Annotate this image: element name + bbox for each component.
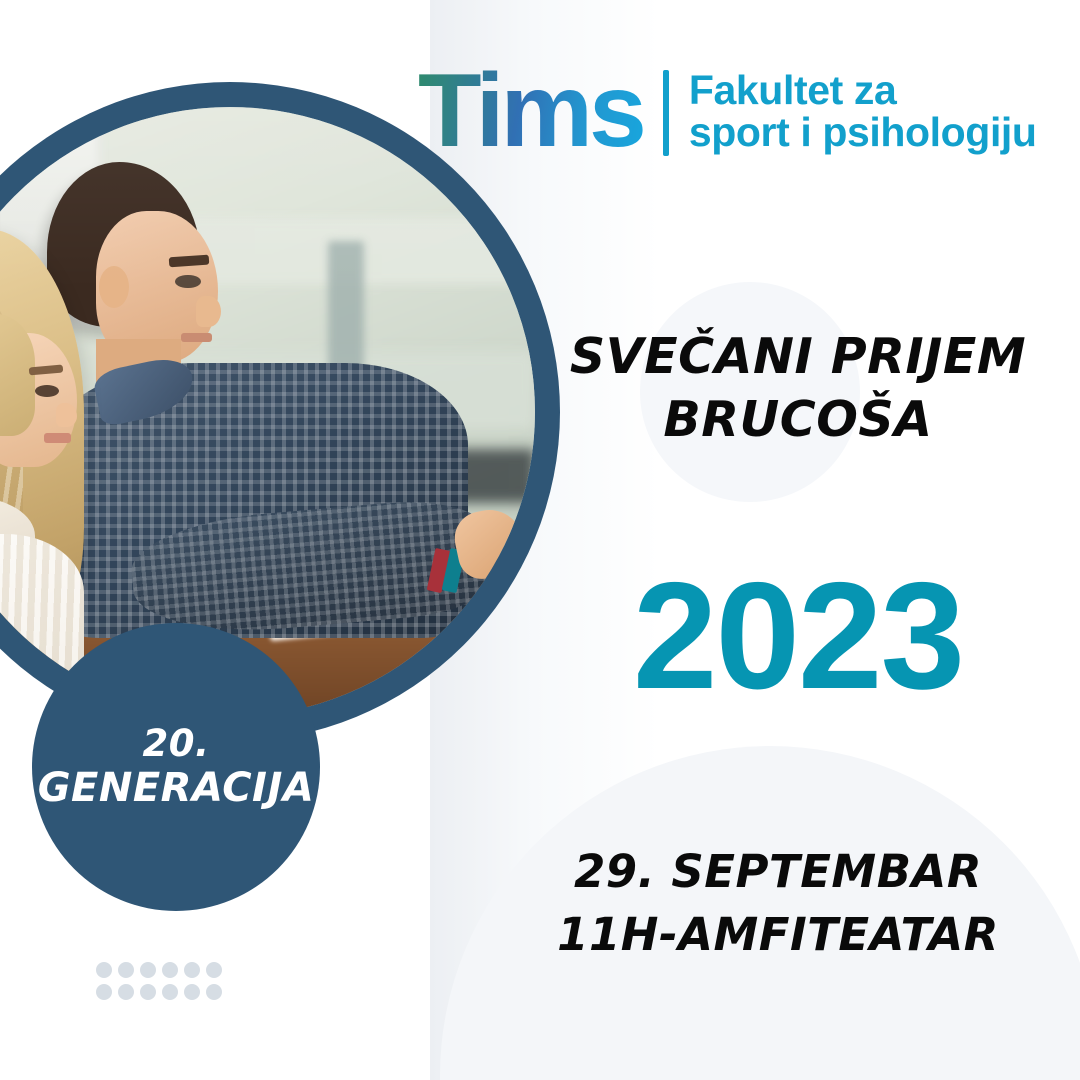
dot	[162, 962, 178, 978]
tims-logo: Tims Fakultet za sport i psihologiju	[418, 62, 1037, 161]
dot	[184, 984, 200, 1000]
decorative-dot-grid	[96, 962, 228, 1006]
generation-badge: 20. GENERACIJA	[32, 623, 320, 911]
dot	[206, 962, 222, 978]
generation-label: GENERACIJA	[38, 767, 315, 809]
headline-line-2: BRUCOŠA	[548, 389, 1048, 452]
dot	[118, 962, 134, 978]
generation-number: 20.	[142, 725, 209, 764]
logo-wordmark: Tims	[418, 62, 643, 161]
photo-light-veil	[0, 107, 535, 717]
event-headline: SVEČANI PRIJEM BRUCOŠA	[548, 326, 1048, 451]
student-photo	[0, 107, 535, 717]
photo-illustration	[0, 107, 535, 717]
dot	[140, 962, 156, 978]
logo-divider	[663, 70, 669, 156]
headline-line-1: SVEČANI PRIJEM	[548, 326, 1048, 389]
logo-tagline: Fakultet za sport i psihologiju	[689, 69, 1037, 154]
logo-tagline-line-2: sport i psihologiju	[689, 111, 1037, 154]
dot	[206, 984, 222, 1000]
logo-tagline-line-1: Fakultet za	[689, 69, 1037, 112]
dot	[162, 984, 178, 1000]
event-details: 29. SEPTEMBAR 11H-AMFITEATAR	[498, 840, 1058, 966]
event-time-venue: 11H-AMFITEATAR	[498, 903, 1058, 966]
dot	[118, 984, 134, 1000]
dot	[184, 962, 200, 978]
dot	[96, 984, 112, 1000]
dot	[96, 962, 112, 978]
event-year: 2023	[548, 560, 1048, 712]
dot	[140, 984, 156, 1000]
photo-ring	[0, 82, 560, 742]
event-date: 29. SEPTEMBAR	[498, 840, 1058, 903]
poster-canvas: 20. GENERACIJA Tims Fakultet za sport i …	[0, 0, 1080, 1080]
